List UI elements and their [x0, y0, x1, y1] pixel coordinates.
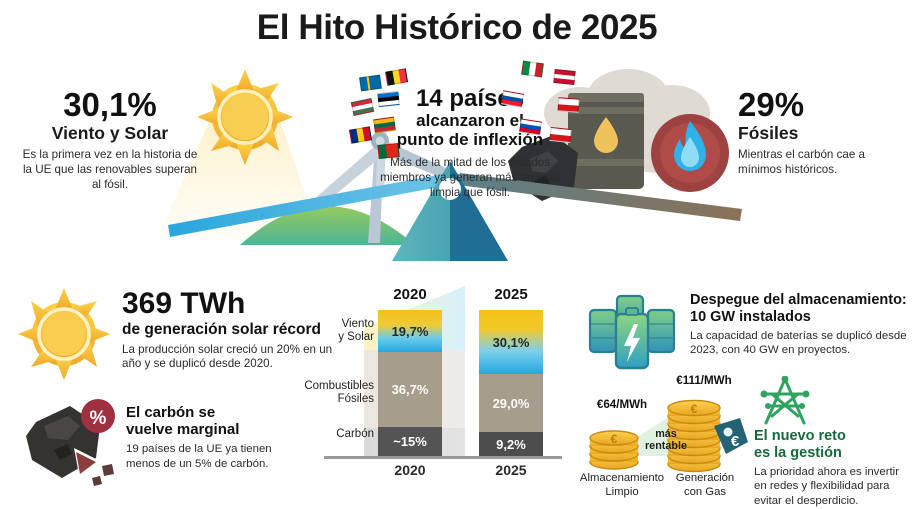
coin-stack-left-icon: €	[590, 431, 638, 469]
storage-desc: La capacidad de baterías se duplicó desd…	[690, 329, 912, 359]
chart-row-label-fossil: CombustiblesFósiles	[300, 380, 374, 406]
svg-text:€: €	[691, 402, 698, 416]
grid-title-line1: El nuevo reto	[754, 428, 914, 445]
bar-2020-label-coal: ~15%	[393, 434, 427, 449]
cost-badge-line2: rentable	[640, 440, 692, 452]
storage-title-line1: Despegue del almacenamiento:	[690, 292, 912, 309]
chart-header-2025: 2025	[476, 286, 546, 303]
bar-2020-label-fossil: 36,7%	[392, 382, 429, 397]
bar-2025-seg-coal: 9,2%	[479, 432, 543, 456]
wind-solar-label: Viento y Solar	[22, 124, 198, 143]
bar-2020-seg-wind-solar: 19,7%	[378, 310, 442, 352]
storage-title-line2: 10 GW instalados	[690, 309, 912, 326]
flag-portugal-icon	[377, 143, 399, 159]
svg-text:€: €	[731, 433, 740, 450]
bar-2020-seg-fossil: 36,7%	[378, 352, 442, 427]
flag-romania-icon	[349, 126, 372, 143]
sun-icon	[197, 69, 293, 165]
svg-text:€: €	[611, 432, 618, 446]
bar-2025-label-fossil: 29,0%	[493, 396, 530, 411]
bar-2025-label-coal: 9,2%	[496, 437, 526, 452]
page-title: El Hito Histórico de 2025	[0, 8, 914, 48]
flag-cluster-right	[502, 62, 592, 152]
infographic-root: El Hito Histórico de 2025	[0, 0, 914, 500]
chart-axis-line	[324, 456, 562, 459]
grid-title-line2: es la gestión	[754, 445, 914, 462]
bar-2025-label-wind-solar: 30,1%	[493, 335, 530, 350]
stacked-bar-chart: 2020 2025	[300, 286, 562, 498]
flag-czechia-2-icon	[549, 127, 571, 143]
gas-flame-icon	[651, 114, 729, 192]
flag-netherlands-icon	[519, 118, 542, 135]
bar-2025-seg-wind-solar: 30,1%	[479, 310, 543, 374]
chart-tick-2020: 2020	[375, 462, 445, 478]
cost-comparison: €	[582, 376, 750, 494]
flag-belgium-icon	[385, 68, 408, 85]
cost-left-price: €64/MWh	[580, 398, 664, 411]
flag-hungary-icon	[351, 98, 374, 116]
stat-coal-marginal: El carbón se vuelve marginal 19 países d…	[126, 404, 306, 471]
flag-czechia-icon	[558, 97, 580, 112]
bar-2025-seg-fossil: 29,0%	[479, 374, 543, 432]
fossils-value: 29%	[738, 88, 908, 122]
coal-rock-icon-marginal: %	[18, 396, 122, 488]
coal-marginal-title-line2: vuelve marginal	[126, 421, 306, 438]
svg-text:%: %	[90, 408, 107, 429]
stat-fossils: 29% Fósiles Mientras el carbón cae a mín…	[738, 88, 908, 178]
bar-2020-seg-coal: ~15%	[378, 427, 442, 456]
stat-wind-solar: 30,1% Viento y Solar Es la primera vez e…	[22, 88, 198, 192]
flag-slovakia-icon	[501, 90, 524, 107]
cost-right-caption-line2: con Gas	[662, 486, 748, 500]
bar-2020: 19,7% 36,7% ~15%	[378, 310, 442, 456]
stat-grid-challenge: El nuevo reto es la gestión La prioridad…	[754, 428, 914, 509]
flag-austria-icon	[553, 69, 575, 85]
battery-stack-icon	[586, 288, 678, 372]
bar-2025: 30,1% 29,0% 9,2%	[479, 310, 543, 456]
sun-icon-solar-record	[12, 286, 116, 382]
cost-left-caption-line1: Almacenamiento	[574, 472, 670, 486]
cost-right-caption: Generación con Gas	[662, 472, 748, 499]
cost-right-price: €111/MWh	[658, 374, 750, 387]
fossils-label: Fósiles	[738, 124, 908, 143]
chart-row-label-wind-solar: Vientoy Solar	[300, 318, 374, 344]
chart-tick-2025: 2025	[476, 462, 546, 478]
stat-storage: Despegue del almacenamiento: 10 GW insta…	[690, 292, 912, 358]
flag-sweden-icon	[359, 75, 382, 92]
cost-left-caption: Almacenamiento Limpio	[574, 472, 670, 499]
flag-italy-icon	[521, 61, 544, 78]
grid-desc: La prioridad ahora es invertir en redes …	[754, 465, 914, 509]
countries-desc: Más de la mitad de los estados miembros …	[370, 156, 570, 200]
power-pylon-icon	[756, 376, 814, 426]
chart-row-label-coal: Carbón	[300, 428, 374, 441]
wind-solar-desc: Es la primera vez en la historia de la U…	[22, 148, 198, 192]
cost-badge-line1: más	[640, 428, 692, 440]
cost-badge: más rentable	[640, 428, 692, 453]
flag-lithuania-icon	[373, 117, 396, 134]
cost-left-caption-line2: Limpio	[574, 486, 670, 500]
flag-cluster-left	[352, 70, 432, 150]
cost-right-caption-line1: Generación	[662, 472, 748, 486]
bar-2020-label-wind-solar: 19,7%	[392, 324, 429, 339]
flag-estonia-icon	[377, 91, 399, 107]
fossils-desc: Mientras el carbón cae a mínimos históri…	[738, 148, 908, 178]
coal-marginal-desc: 19 países de la UE ya tienen menos de un…	[126, 442, 306, 472]
wind-solar-value: 30,1%	[22, 88, 198, 122]
coal-marginal-title-line1: El carbón se	[126, 404, 306, 421]
